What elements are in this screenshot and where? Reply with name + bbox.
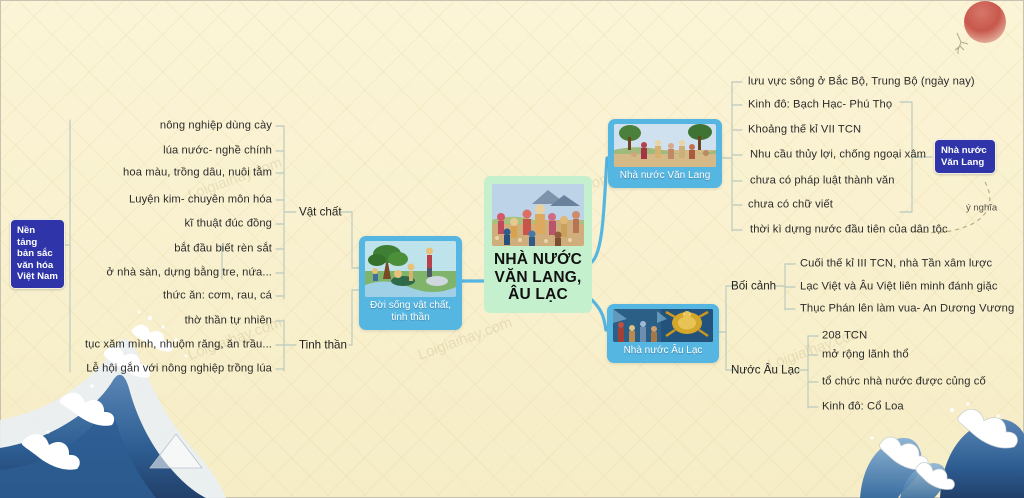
nuoc-au-lac-ticks bbox=[808, 336, 818, 407]
leaf-vat-chat-8: thức ăn: cơm, rau, cá bbox=[40, 290, 272, 303]
root-box-ban-sac[interactable]: Nền tảng bản sắc văn hóa Việt Nam bbox=[10, 219, 65, 289]
boi-canh-ticks bbox=[785, 264, 795, 309]
outcome-box-nha-nuoc-van-lang[interactable]: Nhà nước Văn Lang bbox=[934, 139, 996, 174]
leaf-van-lang-3: Khoảng thế kỉ VII TCN bbox=[748, 124, 861, 137]
category-vat-chat: Vật chất bbox=[299, 206, 342, 219]
leaf-van-lang-2: Kinh đô: Bạch Hạc- Phú Thọ bbox=[748, 99, 892, 112]
leaf-tinh-than-1: thờ thần tự nhiên bbox=[40, 315, 272, 328]
tinh-than-ticks bbox=[276, 321, 284, 369]
leaf-vat-chat-7: ở nhà sàn, dựng bằng tre, nứa... bbox=[40, 267, 272, 280]
leaf-nuoc-au-lac-3: tổ chức nhà nước được củng cố bbox=[822, 376, 986, 389]
leaf-boi-canh-3: Thục Phán lên làm vua- An Dương Vương bbox=[800, 303, 1014, 316]
leaf-van-lang-4: Nhu cầu thủy lợi, chống ngoại xâm bbox=[750, 149, 926, 162]
leaf-van-lang-7: thời kì dựng nước đầu tiên của dân tộc bbox=[750, 224, 948, 237]
leaf-vat-chat-6: bắt đầu biết rèn sắt bbox=[40, 243, 272, 256]
root-box-line2: bản sắc bbox=[17, 248, 58, 260]
root-box-line4: Việt Nam bbox=[17, 271, 58, 283]
leaf-boi-canh-2: Lạc Việt và Âu Việt liên minh đánh giặc bbox=[800, 281, 998, 294]
nha-nuoc-au-lac-illustration bbox=[613, 309, 713, 342]
leaf-vat-chat-2: lúa nước- nghề chính bbox=[40, 145, 272, 158]
vat-chat-ticks bbox=[276, 126, 284, 296]
leaf-van-lang-5: chưa có pháp luật thành văn bbox=[750, 175, 895, 188]
center-title-line2: VĂN LANG, bbox=[492, 269, 584, 287]
outcome-box-line1: Nhà nước bbox=[941, 145, 989, 157]
leaf-nuoc-au-lac-4: Kinh đô: Cổ Loa bbox=[822, 401, 904, 414]
leaf-van-lang-6: chưa có chữ viết bbox=[748, 199, 833, 212]
leaf-vat-chat-1: nông nghiệp dùng cày bbox=[40, 120, 272, 133]
root-box-line1: Nền tảng bbox=[17, 225, 58, 248]
van-lang-node-caption: Nhà nước Văn Lang bbox=[614, 170, 716, 182]
vat-chat-to-node bbox=[340, 212, 360, 268]
doi-song-vat-chat-illustration bbox=[365, 241, 456, 297]
category-boi-canh: Bối cảnh bbox=[731, 280, 776, 293]
label-y-nghia: ý nghĩa bbox=[966, 203, 997, 214]
center-title-line3: ÂU LẠC bbox=[492, 286, 584, 304]
node-doi-song-vat-chat-tinh-than[interactable]: Đời sống vật chất, tinh thần bbox=[359, 236, 462, 330]
leaf-vat-chat-4: Luyện kim- chuyên môn hóa bbox=[40, 194, 272, 207]
leaf-vat-chat-3: hoa màu, trồng dâu, nuôi tằm bbox=[40, 167, 272, 180]
center-title-line1: NHÀ NƯỚC bbox=[492, 251, 584, 269]
leaf-van-lang-1: lưu vực sông ở Bắc Bộ, Trung Bộ (ngày na… bbox=[748, 76, 975, 89]
van-lang-au-lac-illustration bbox=[492, 184, 584, 246]
center-node-nha-nuoc-van-lang-au-lac[interactable]: NHÀ NƯỚC VĂN LANG, ÂU LẠC bbox=[484, 176, 592, 313]
node-caption-line2: tinh thần bbox=[365, 312, 456, 324]
leaf-nuoc-au-lac-1: 208 TCN bbox=[822, 330, 867, 343]
category-nuoc-au-lac: Nước Âu Lạc bbox=[731, 364, 800, 377]
leaf-boi-canh-1: Cuối thế kỉ III TCN, nhà Tần xâm lược bbox=[800, 258, 992, 271]
node-caption-line1: Đời sống vật chất, bbox=[365, 300, 456, 312]
nha-nuoc-van-lang-illustration bbox=[614, 124, 716, 167]
van-lang-ticks bbox=[732, 82, 742, 230]
center-to-au-lac bbox=[592, 300, 606, 330]
root-box-line3: văn hóa bbox=[17, 260, 58, 272]
node-nha-nuoc-au-lac[interactable]: Nhà nước Âu Lạc bbox=[607, 304, 719, 363]
category-tinh-than: Tinh thần bbox=[299, 339, 347, 352]
leaf-nuoc-au-lac-2: mở rộng lãnh thổ bbox=[822, 349, 909, 362]
node-nha-nuoc-van-lang[interactable]: Nhà nước Văn Lang bbox=[608, 119, 722, 188]
mindmap-canvas: Loigiaihay.com Loigiaihay.com Loigiaihay… bbox=[0, 0, 1024, 498]
leaf-tinh-than-2: tục xăm mình, nhuộm răng, ăn trầu... bbox=[30, 339, 272, 352]
au-lac-node-caption: Nhà nước Âu Lạc bbox=[613, 345, 713, 357]
leaf-vat-chat-5: kĩ thuật đúc đồng bbox=[40, 218, 272, 231]
outcome-box-line2: Văn Lang bbox=[941, 157, 989, 169]
leaf-tinh-than-3: Lễ hội gắn với nông nghiệp trồng lúa bbox=[30, 363, 272, 376]
au-lac-spine-ticks bbox=[726, 286, 736, 370]
center-to-van-lang bbox=[592, 158, 607, 262]
